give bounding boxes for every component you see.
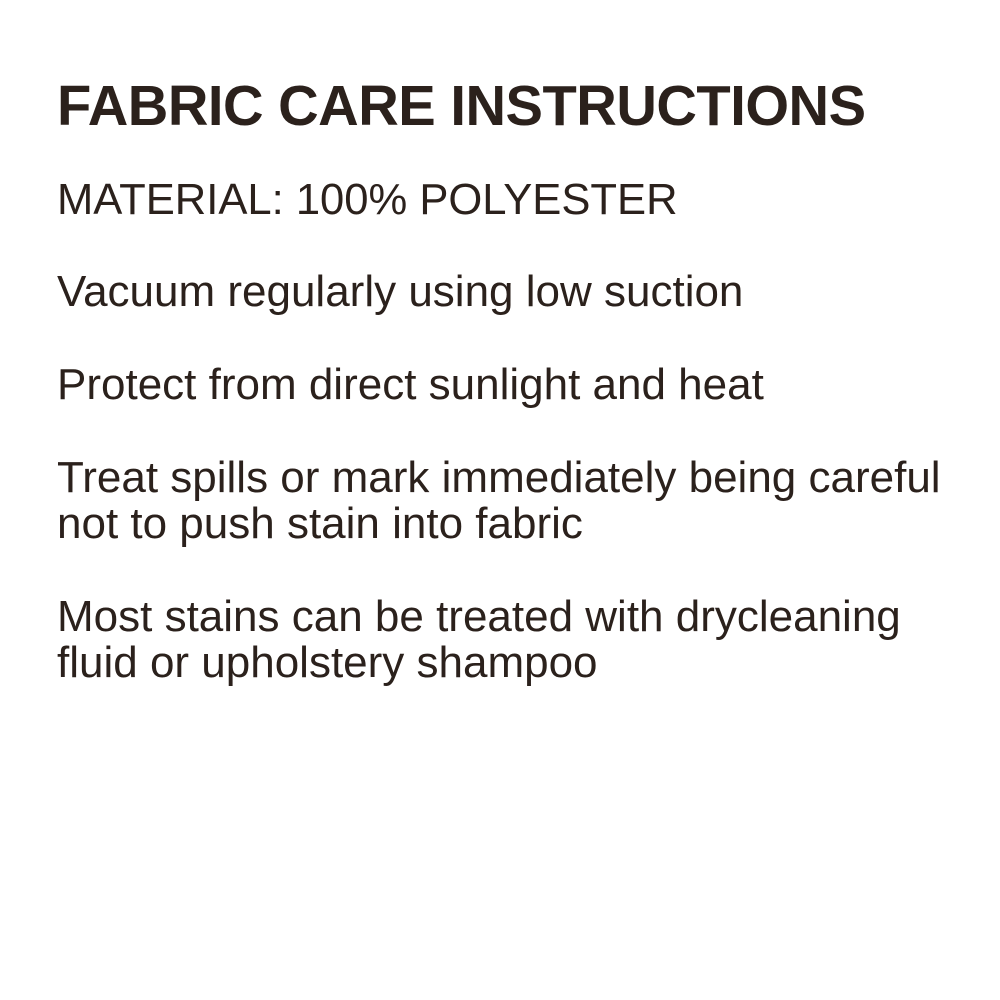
list-item: Treat spills or mark immediately being c… <box>57 408 917 547</box>
fabric-care-label: FABRIC CARE INSTRUCTIONS MATERIAL: 100% … <box>0 0 1000 1000</box>
instruction-line: fluid or upholstery shampoo <box>57 640 917 686</box>
care-instruction-list: Vacuum regularly using low suction Prote… <box>57 222 960 686</box>
page-title: FABRIC CARE INSTRUCTIONS <box>57 78 946 135</box>
list-item: Most stains can be treated with dryclean… <box>57 547 917 686</box>
instruction-line: Treat spills or mark immediately being c… <box>57 455 917 501</box>
list-item: Protect from direct sunlight and heat <box>57 315 917 408</box>
instruction-line: Vacuum regularly using low suction <box>57 269 917 315</box>
instruction-line: Protect from direct sunlight and heat <box>57 362 917 408</box>
material-composition: MATERIAL: 100% POLYESTER <box>57 135 951 222</box>
label-content: FABRIC CARE INSTRUCTIONS MATERIAL: 100% … <box>57 78 960 686</box>
list-item: Vacuum regularly using low suction <box>57 222 917 315</box>
instruction-line: Most stains can be treated with dryclean… <box>57 594 917 640</box>
instruction-line: not to push stain into fabric <box>57 501 917 547</box>
